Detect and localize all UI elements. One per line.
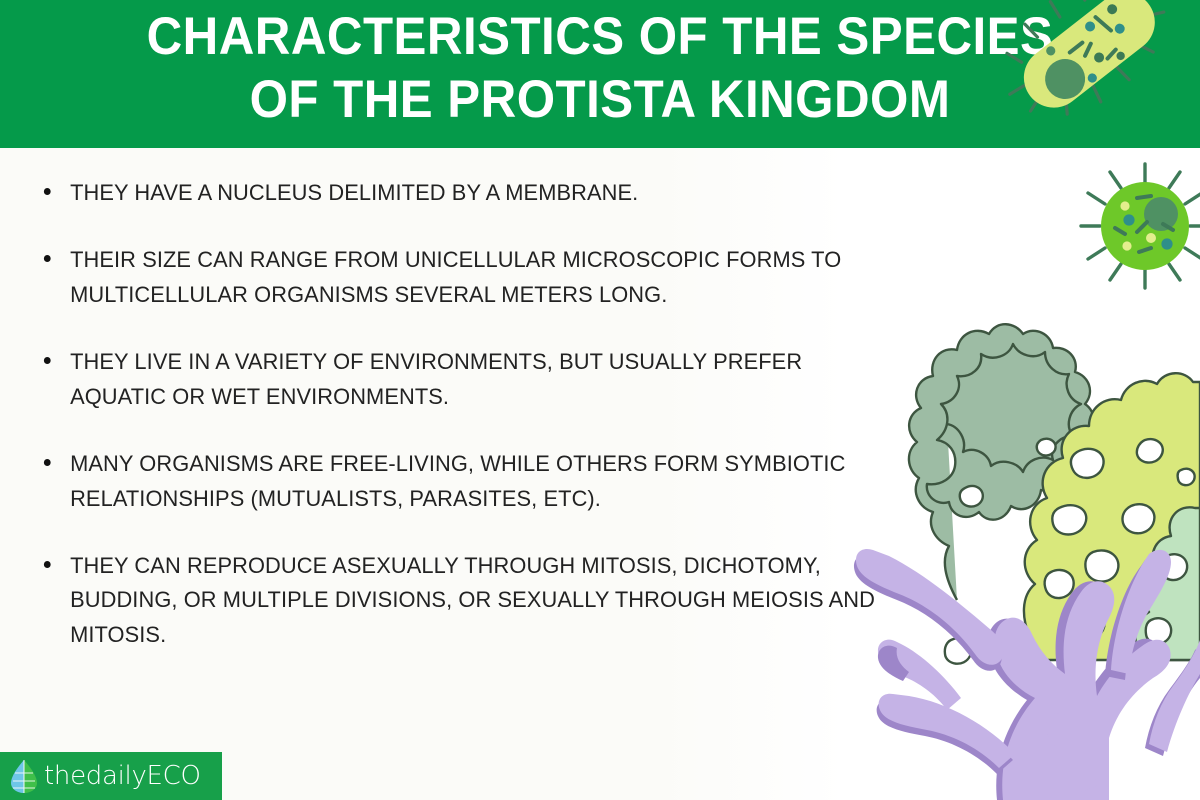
list-item: THEIR SIZE CAN RANGE FROM UNICELLULAR MI… (40, 243, 894, 312)
algae-sage (909, 324, 1094, 600)
list-item: MANY ORGANISMS ARE FREE-LIVING, WHILE OT… (40, 447, 894, 516)
list-item-text: THEY HAVE A NUCLEUS DELIMITED BY A MEMBR… (70, 180, 638, 205)
bullet-point-icon (44, 188, 51, 195)
algae-mint (1135, 469, 1200, 660)
cilia-group (1081, 164, 1200, 288)
bullet-point-icon (44, 561, 51, 568)
list-item: THEY CAN REPRODUCE ASEXUALLY THROUGH MIT… (40, 549, 894, 652)
algae-chartreuse (945, 373, 1200, 663)
leaf-icon (11, 759, 37, 793)
page-title: CHARACTERISTICS OF THE SPECIES OF THE PR… (42, 6, 1158, 131)
logo-text: thedailyECO (44, 763, 201, 789)
cell-body (1101, 182, 1189, 270)
list-item-text: THEY LIVE IN A VARIETY OF ENVIRONMENTS, … (70, 349, 802, 408)
organelle-dashes (1115, 196, 1173, 252)
characteristics-list: THEY HAVE A NUCLEUS DELIMITED BY A MEMBR… (40, 176, 920, 652)
cell-nucleus (1144, 197, 1178, 231)
brand-logo[interactable]: thedailyECO (0, 752, 222, 800)
list-item: THEY HAVE A NUCLEUS DELIMITED BY A MEMBR… (40, 176, 894, 210)
list-item-text: MANY ORGANISMS ARE FREE-LIVING, WHILE OT… (70, 451, 845, 510)
bullet-point-icon (44, 459, 51, 466)
coccus-cell (1081, 164, 1200, 288)
list-item-text: THEIR SIZE CAN RANGE FROM UNICELLULAR MI… (70, 247, 841, 306)
list-item: THEY LIVE IN A VARIETY OF ENVIRONMENTS, … (40, 345, 894, 414)
bullet-point-icon (44, 255, 51, 262)
infographic-poster: CHARACTERISTICS OF THE SPECIES OF THE PR… (0, 0, 1200, 800)
bullet-point-icon (44, 357, 51, 364)
list-item-text: THEY CAN REPRODUCE ASEXUALLY THROUGH MIT… (70, 553, 875, 647)
